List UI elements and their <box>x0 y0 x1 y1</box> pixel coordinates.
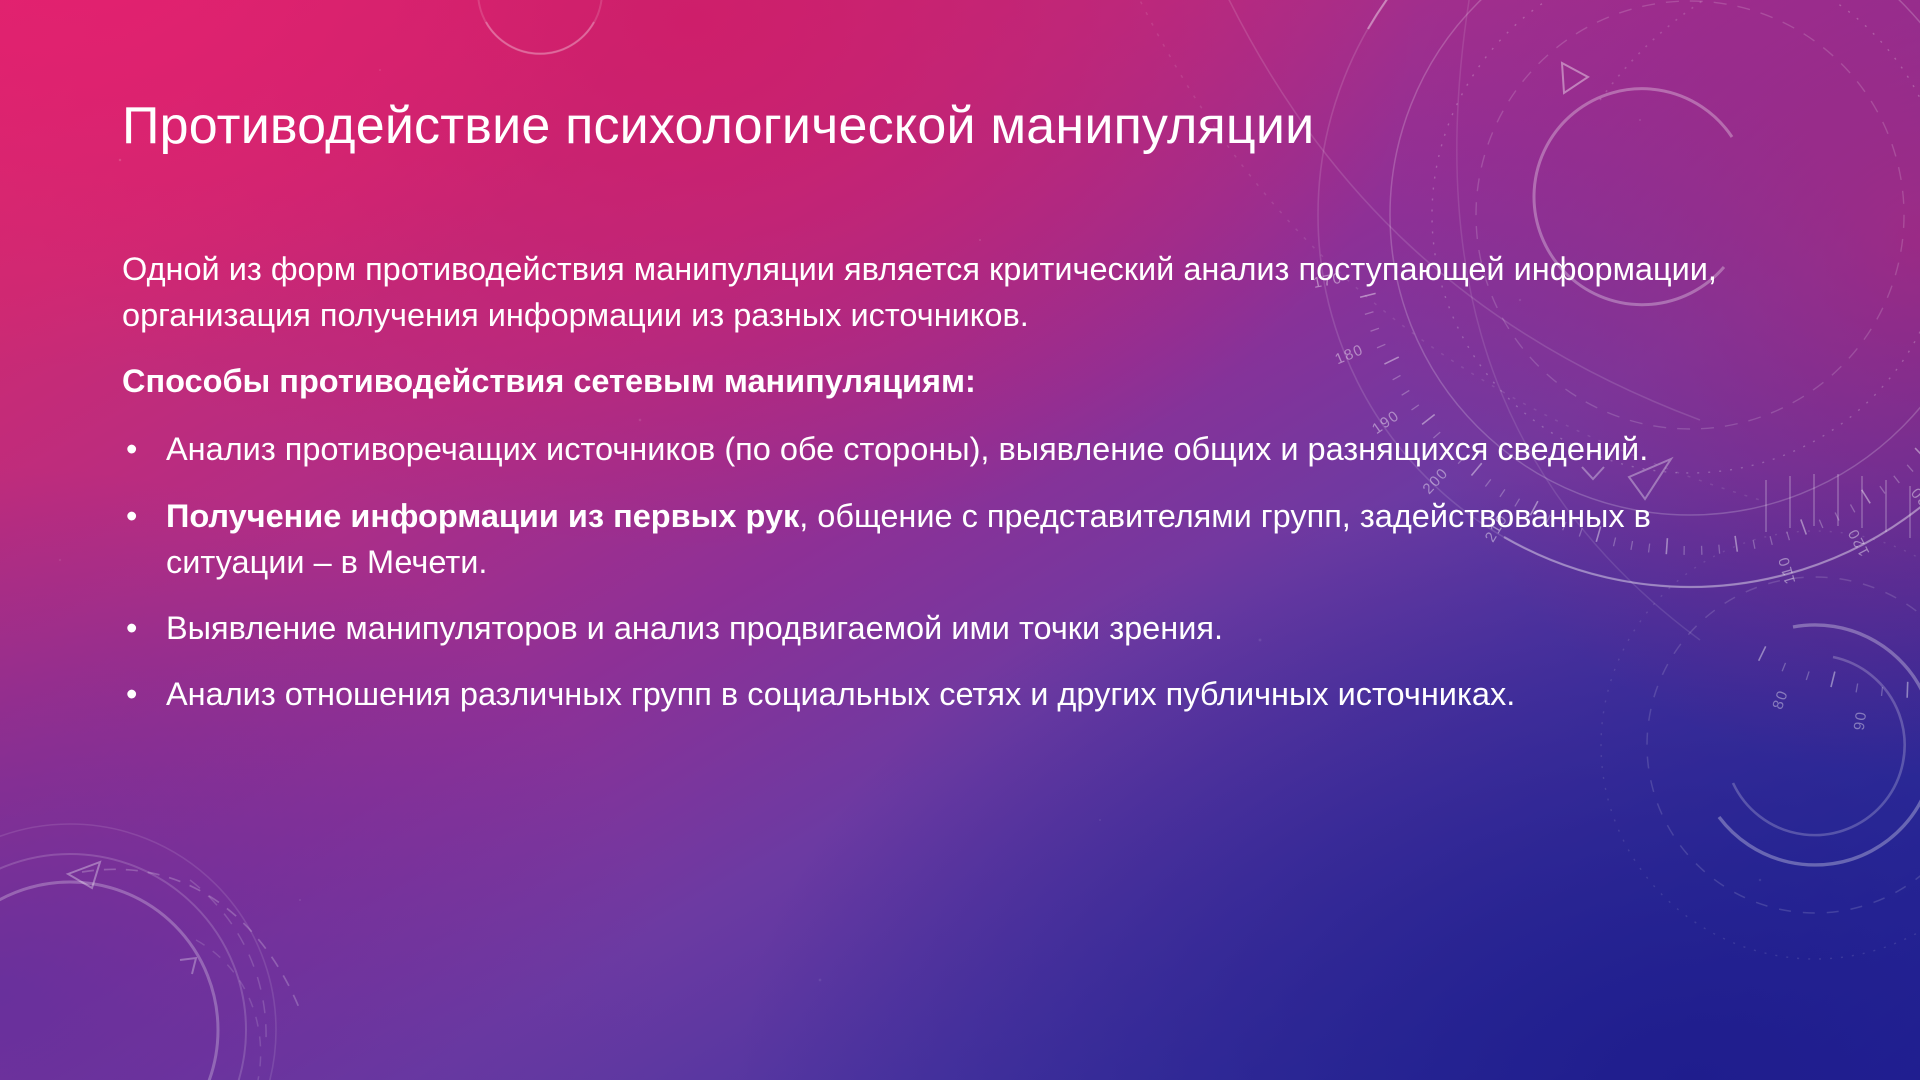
list-item: • Анализ противоречащих источников (по о… <box>122 426 1727 472</box>
bullet-marker-icon: • <box>126 605 137 651</box>
list-item-text: Выявление манипуляторов и анализ продвиг… <box>166 610 1223 646</box>
list-item-bold-prefix: Получение информации из первых рук <box>166 498 799 534</box>
bullet-marker-icon: • <box>126 671 137 717</box>
list-item: • Анализ отношения различных групп в соц… <box>122 671 1727 717</box>
page-title: Противодействие психологической манипуля… <box>122 97 1522 155</box>
presentation-slide: 210 200 190 180 170 140 130 120 110 <box>0 0 1920 1080</box>
list-item: • Получение информации из первых рук, об… <box>122 493 1727 585</box>
list-item: • Выявление манипуляторов и анализ продв… <box>122 605 1727 651</box>
list-item-text: Анализ противоречащих источников (по обе… <box>166 431 1648 467</box>
list-item-text: Анализ отношения различных групп в социа… <box>166 676 1515 712</box>
bullet-marker-icon: • <box>126 493 137 539</box>
slide-body: Одной из форм противодействия манипуляци… <box>122 246 1727 737</box>
intro-paragraph: Одной из форм противодействия манипуляци… <box>122 246 1727 338</box>
bullet-marker-icon: • <box>126 426 137 472</box>
subheading-paragraph: Способы противодействия сетевым манипуля… <box>122 358 1727 404</box>
slide-content: Противодействие психологической манипуля… <box>0 0 1920 1080</box>
